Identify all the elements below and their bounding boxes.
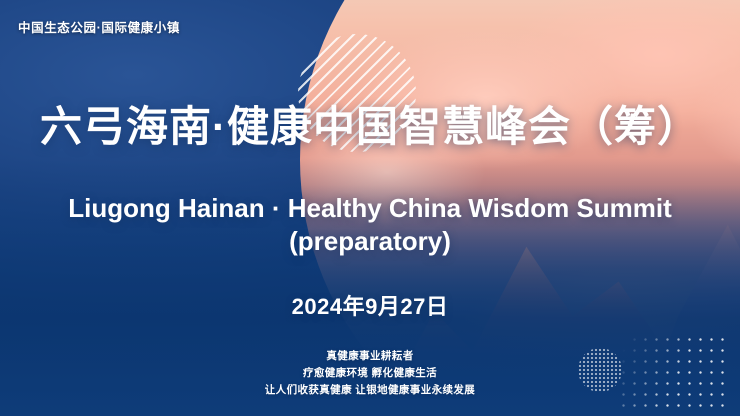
page-title: 六弓海南·健康中国智慧峰会（筹） — [0, 104, 740, 150]
english-title-line2: (preparatory) — [40, 225, 700, 258]
slogan-line-1: 真健康事业耕耘者 — [0, 348, 740, 365]
english-title: Liugong Hainan · Healthy China Wisdom Su… — [40, 192, 700, 258]
slogan-block: 真健康事业耕耘者 疗愈健康环境 孵化健康生活 让人们收获真健康 让银地健康事业永… — [0, 348, 740, 399]
slogan-line-2: 疗愈健康环境 孵化健康生活 — [0, 365, 740, 382]
banner-content: 中国生态公园·国际健康小镇 六弓海南·健康中国智慧峰会（筹） Liugong H… — [0, 0, 740, 416]
english-title-line1: Liugong Hainan · Healthy China Wisdom Su… — [40, 192, 700, 225]
slogan-line-3: 让人们收获真健康 让银地健康事业永续发展 — [0, 382, 740, 399]
event-banner: 中国生态公园·国际健康小镇 六弓海南·健康中国智慧峰会（筹） Liugong H… — [0, 0, 740, 416]
park-subtitle: 中国生态公园·国际健康小镇 — [18, 17, 180, 36]
event-date: 2024年9月27日 — [0, 289, 740, 321]
